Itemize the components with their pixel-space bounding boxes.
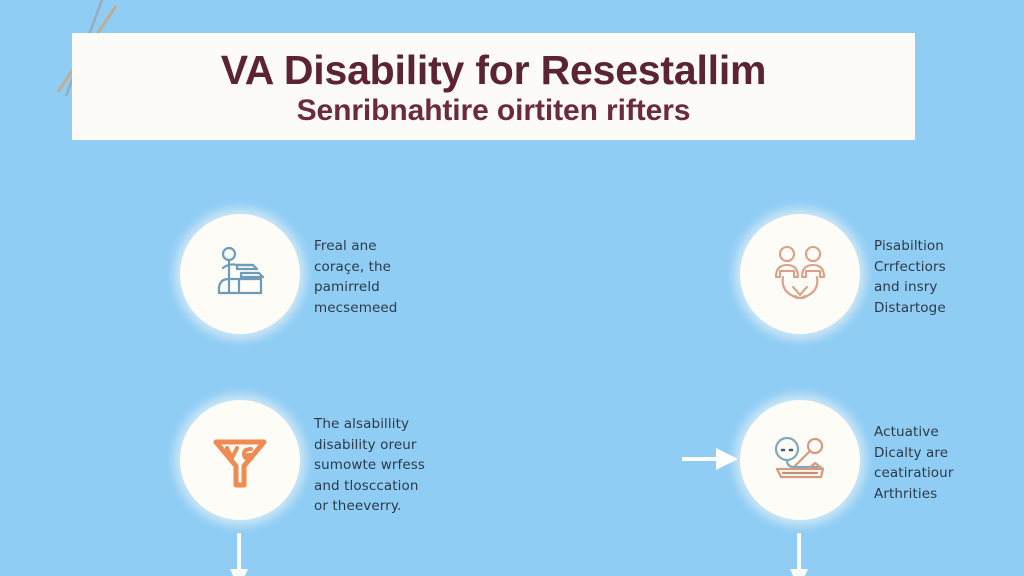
arrow-down-right-icon (784, 531, 814, 576)
text-line: mecsemeed (314, 298, 397, 319)
flow-step-top-right: Pisabiltion Crrfectiors and insry Distar… (740, 214, 1024, 334)
text-line: Freal ane (314, 236, 397, 257)
title-banner: VA Disability for Resestallim Senribnaht… (72, 33, 915, 140)
arrow-right-top-icon (680, 443, 744, 480)
text-line: pamirreld (314, 277, 397, 298)
text-line: Distartoge (874, 298, 946, 319)
flow-step-bottom-left: The alsabillity disability oreur sumowte… (180, 400, 510, 520)
handshake-people-icon (763, 237, 837, 311)
arrow-down-left-icon (224, 531, 254, 576)
flow-step-top-left: Freal ane coraçe, the pamirreld mecsemee… (180, 214, 510, 334)
reclining-person-icon (763, 423, 837, 497)
text-line: Actuative (874, 422, 953, 443)
flow-step-top-right-text: Pisabiltion Crrfectiors and insry Distar… (874, 214, 946, 318)
icon-circle-top-left (180, 214, 300, 334)
text-line: ceatiratiour (874, 463, 953, 484)
text-line: and tlosccation (314, 476, 425, 497)
icon-circle-top-right (740, 214, 860, 334)
text-line: Dicalty are (874, 443, 953, 464)
flow-diagram: Freal ane coraçe, the pamirreld mecsemee… (0, 188, 1024, 558)
flow-step-bottom-right-text: Actuative Dicalty are ceatiratiour Arthr… (874, 400, 953, 504)
text-line: sumowte wrfess (314, 455, 425, 476)
text-line: disability oreur (314, 435, 425, 456)
page-title: VA Disability for Resestallim (221, 49, 767, 92)
flow-step-bottom-right: Actuative Dicalty are ceatiratiour Arthr… (740, 400, 1024, 520)
flow-step-top-left-text: Freal ane coraçe, the pamirreld mecsemee… (314, 214, 397, 318)
text-line: and insry (874, 277, 946, 298)
text-line: coraçe, the (314, 257, 397, 278)
text-line: or theeverry. (314, 496, 425, 517)
page-subtitle: Senribnahtire oirtiten rifters (297, 95, 691, 127)
icon-circle-bottom-left (180, 400, 300, 520)
icon-circle-bottom-right (740, 400, 860, 520)
physical-therapy-icon (203, 237, 277, 311)
text-line: The alsabillity (314, 414, 425, 435)
text-line: Arthrities (874, 484, 953, 505)
funnel-vg-icon (203, 423, 277, 497)
text-line: Pisabiltion (874, 236, 946, 257)
flow-step-bottom-left-text: The alsabillity disability oreur sumowte… (314, 400, 425, 517)
text-line: Crrfectiors (874, 257, 946, 278)
